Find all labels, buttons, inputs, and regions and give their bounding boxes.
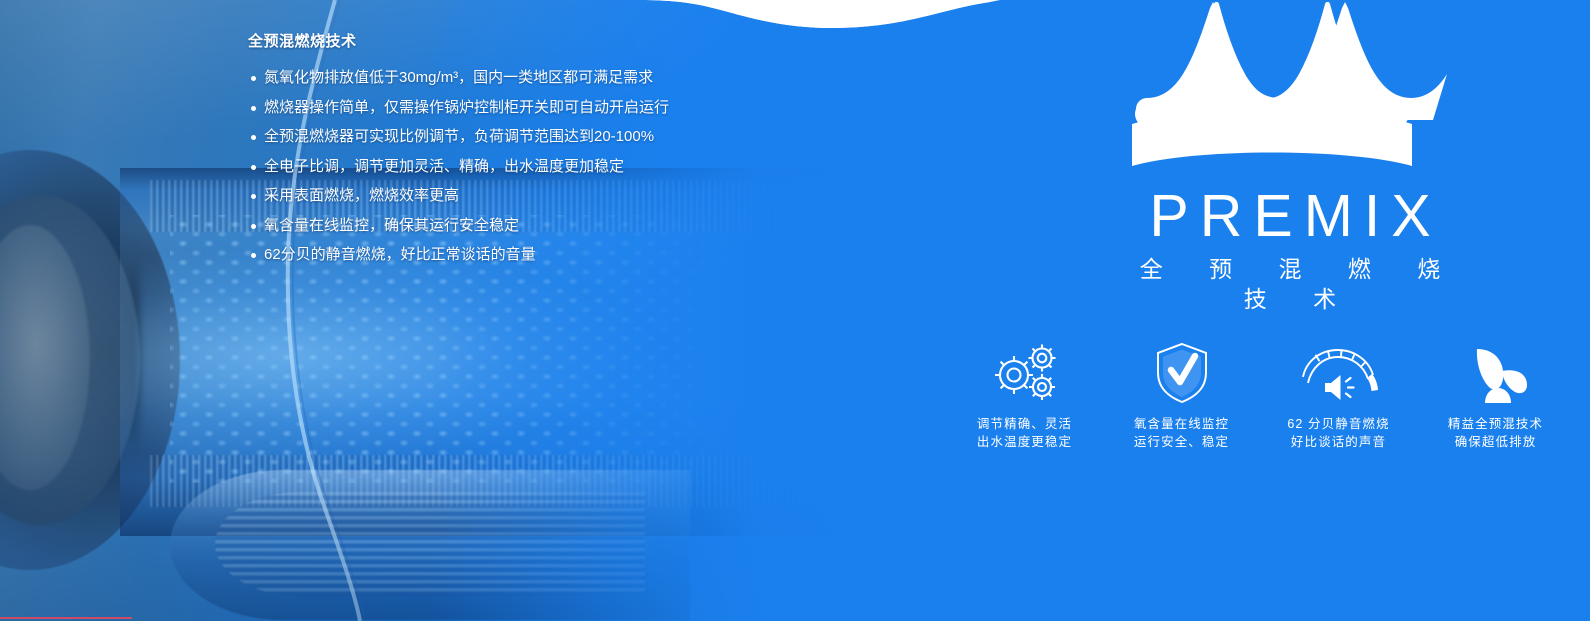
premix-logo: PREMIX 全 预 混 燃 烧 技 术: [1090, 0, 1490, 314]
list-item: 全电子比调，调节更加灵活、精确，出水温度更加稳定: [248, 152, 768, 182]
bullet-text: 采用表面燃烧，燃烧效率更高: [264, 187, 459, 204]
bullet-dot-icon: [251, 165, 256, 170]
gears-icon: [946, 340, 1103, 406]
feature-caption-line1: 调节精确、灵活: [946, 415, 1103, 433]
feature-caption: 调节精确、灵活 出水温度更稳定: [946, 415, 1103, 451]
crown-icon: [1115, 2, 1465, 167]
feature-item-adjustment: 调节精确、灵活 出水温度更稳定: [946, 340, 1103, 451]
feature-item-low-emission: 精益全预混技术 确保超低排放: [1417, 340, 1574, 451]
feature-copy-block: 全预混燃烧技术 氮氧化物排放值低于30mg/m³，国内一类地区都可满足需求 燃烧…: [248, 32, 768, 270]
bullet-dot-icon: [251, 135, 256, 140]
bullet-text: 氮氧化物排放值低于30mg/m³，国内一类地区都可满足需求: [264, 69, 653, 86]
bullet-dot-icon: [251, 253, 256, 258]
logo-wordmark: PREMIX: [1090, 185, 1490, 247]
feature-caption-line1: 62 分贝静音燃烧: [1260, 415, 1417, 433]
page-title: 全预混燃烧技术: [248, 32, 768, 52]
feature-caption-line2: 好比谈话的声音: [1260, 433, 1417, 451]
feature-caption-line2: 运行安全、稳定: [1103, 433, 1260, 451]
bottom-accent-line: [0, 617, 132, 619]
feature-item-quiet-operation: 62 分贝静音燃烧 好比谈话的声音: [1260, 340, 1417, 451]
bullet-dot-icon: [251, 106, 256, 111]
bullet-text: 全电子比调，调节更加灵活、精确，出水温度更加稳定: [264, 158, 624, 175]
list-item: 氧含量在线监控，确保其运行安全稳定: [248, 211, 768, 241]
bullet-dot-icon: [251, 76, 256, 81]
feature-caption-line2: 确保超低排放: [1417, 433, 1574, 451]
list-item: 氮氧化物排放值低于30mg/m³，国内一类地区都可满足需求: [248, 63, 768, 93]
feature-caption-line2: 出水温度更稳定: [946, 433, 1103, 451]
bullet-text: 全预混燃烧器可实现比例调节，负荷调节范围达到20-100%: [264, 128, 654, 145]
shield-check-icon: [1103, 340, 1260, 406]
bullet-text: 62分贝的静音燃烧，好比正常谈话的音量: [264, 246, 536, 263]
feature-caption: 62 分贝静音燃烧 好比谈话的声音: [1260, 415, 1417, 451]
leaf-sprout-icon: [1417, 340, 1574, 406]
bullet-dot-icon: [251, 194, 256, 199]
list-item: 62分贝的静音燃烧，好比正常谈话的音量: [248, 240, 768, 270]
logo-subtitle: 全 预 混 燃 烧 技 术: [1090, 254, 1490, 314]
speaker-gauge-icon: [1260, 340, 1417, 406]
feature-caption: 精益全预混技术 确保超低排放: [1417, 415, 1574, 451]
feature-bullet-list: 氮氧化物排放值低于30mg/m³，国内一类地区都可满足需求 燃烧器操作简单，仅需…: [248, 63, 768, 270]
list-item: 全预混燃烧器可实现比例调节，负荷调节范围达到20-100%: [248, 122, 768, 152]
feature-icon-row: 调节精确、灵活 出水温度更稳定 氧含量在线监控 运行安全、稳定: [946, 340, 1574, 451]
list-item: 燃烧器操作简单，仅需操作锅炉控制柜开关即可自动开启运行: [248, 93, 768, 123]
bullet-dot-icon: [251, 224, 256, 229]
feature-item-oxygen-monitor: 氧含量在线监控 运行安全、稳定: [1103, 340, 1260, 451]
bullet-text: 氧含量在线监控，确保其运行安全稳定: [264, 217, 519, 234]
premix-promo-banner: 全预混燃烧技术 氮氧化物排放值低于30mg/m³，国内一类地区都可满足需求 燃烧…: [0, 0, 1590, 621]
feature-caption-line1: 精益全预混技术: [1417, 415, 1574, 433]
bullet-text: 燃烧器操作简单，仅需操作锅炉控制柜开关即可自动开启运行: [264, 99, 669, 116]
feature-caption-line1: 氧含量在线监控: [1103, 415, 1260, 433]
feature-caption: 氧含量在线监控 运行安全、稳定: [1103, 415, 1260, 451]
list-item: 采用表面燃烧，燃烧效率更高: [248, 181, 768, 211]
